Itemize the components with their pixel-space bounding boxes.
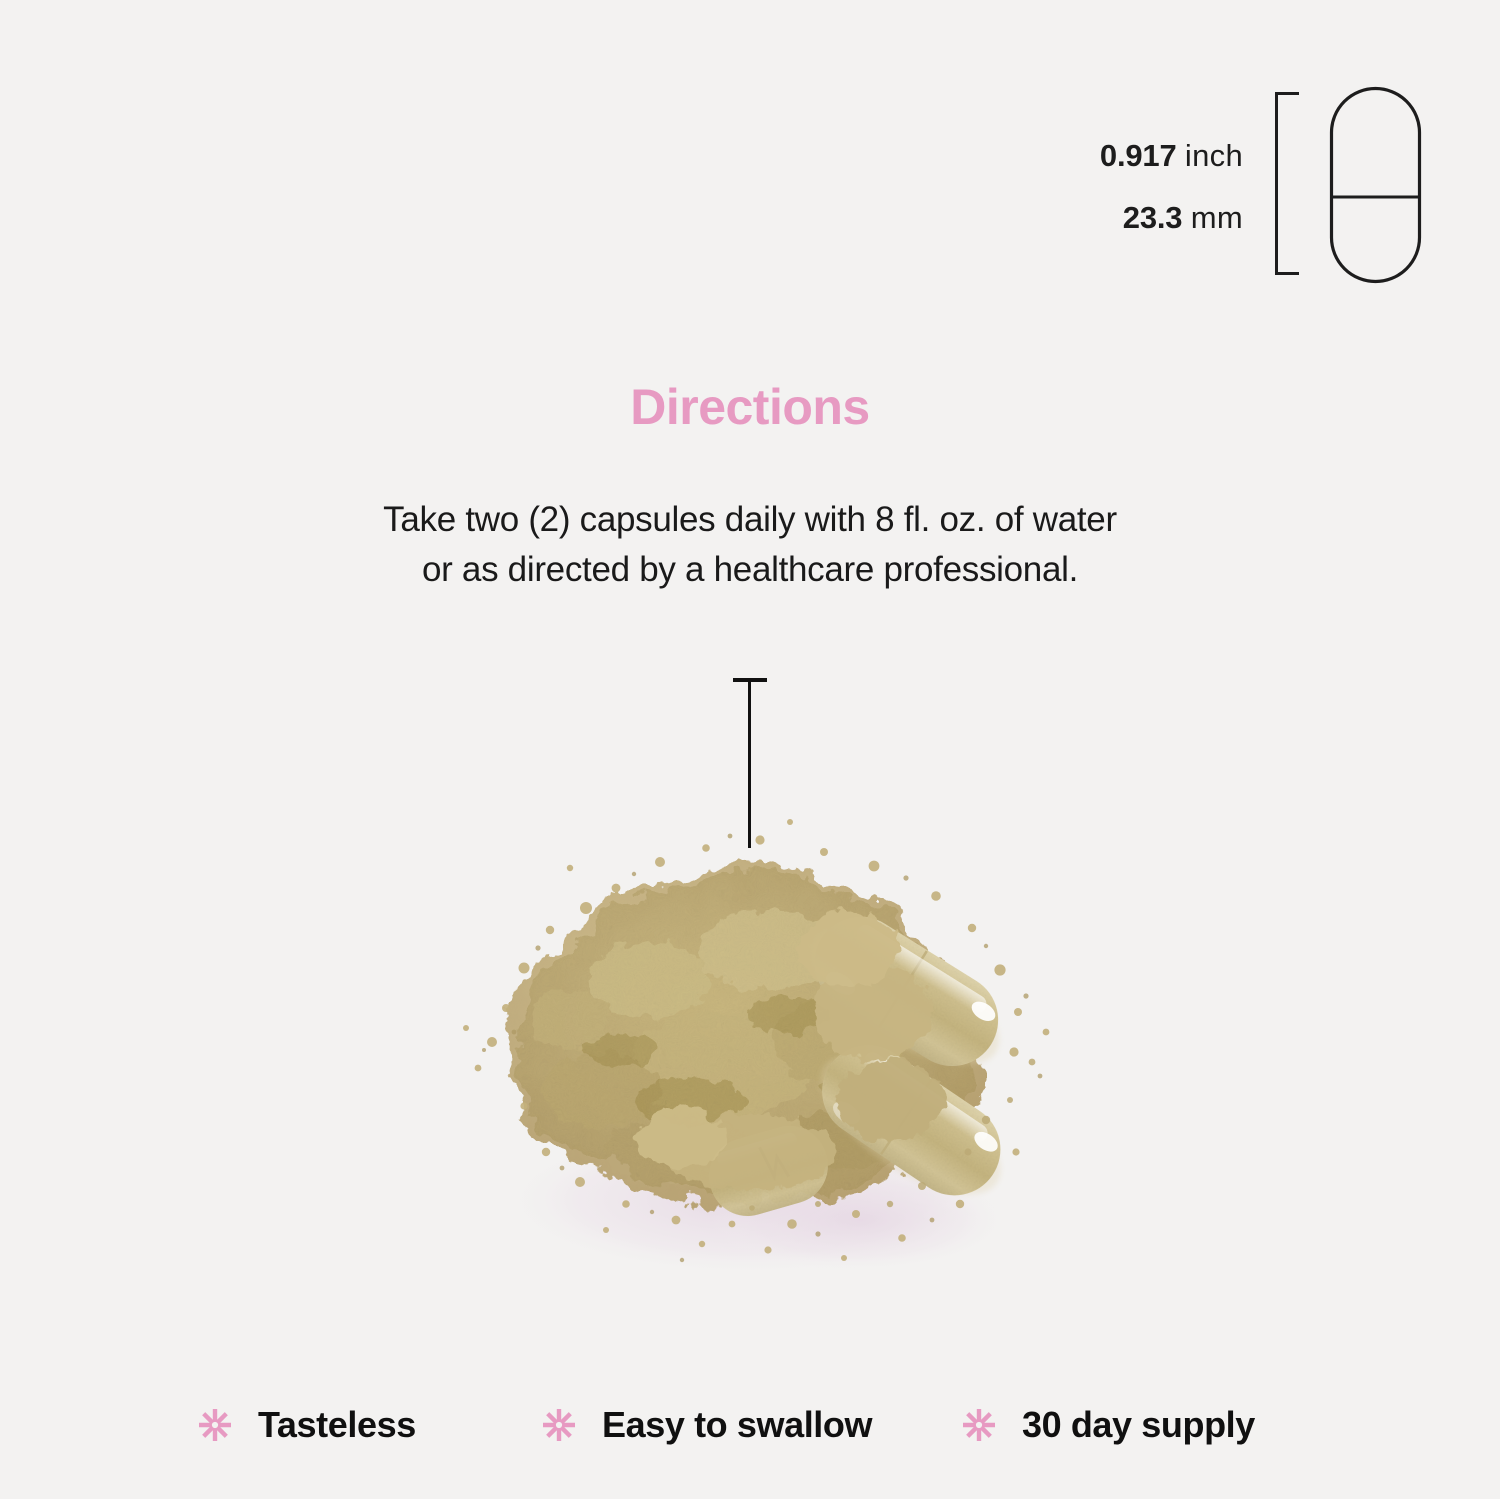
capsule-outline-icon — [1328, 85, 1438, 290]
feature-item-easy-to-swallow: Easy to swallow — [542, 1390, 872, 1460]
directions-text: Take two (2) capsules daily with 8 fl. o… — [370, 495, 1130, 595]
feature-item-30-day-supply: 30 day supply — [962, 1390, 1255, 1460]
capsule-size-indicator: 0.917 inch 23.3 mm — [1050, 85, 1450, 295]
asterisk-icon — [962, 1408, 996, 1442]
feature-label: Tasteless — [258, 1404, 416, 1446]
product-infographic: 0.917 inch 23.3 mm Directions Take two (… — [0, 0, 1500, 1499]
feature-row: Tasteless Easy to swallow — [0, 1390, 1500, 1460]
bracket-bottom-arm — [1275, 272, 1299, 275]
feature-label: Easy to swallow — [602, 1404, 872, 1446]
asterisk-icon — [542, 1408, 576, 1442]
size-mm-value: 23.3 — [1123, 200, 1183, 235]
feature-label: 30 day supply — [1022, 1404, 1255, 1446]
product-photo — [420, 800, 1120, 1310]
size-inch-unit: inch — [1185, 138, 1243, 173]
size-mm-unit: mm — [1191, 200, 1243, 235]
bracket-spine — [1275, 92, 1278, 275]
size-labels: 0.917 inch 23.3 mm — [1050, 125, 1243, 249]
size-inch-line: 0.917 inch — [1050, 125, 1243, 187]
bracket-top-arm — [1275, 92, 1299, 95]
measurement-bracket-icon — [1275, 92, 1299, 275]
size-mm-line: 23.3 mm — [1050, 187, 1243, 249]
size-inch-value: 0.917 — [1100, 138, 1177, 173]
asterisk-icon — [198, 1408, 232, 1442]
page-title: Directions — [0, 378, 1500, 436]
powder-and-capsules-illustration — [420, 800, 1120, 1310]
feature-item-tasteless: Tasteless — [198, 1390, 416, 1460]
